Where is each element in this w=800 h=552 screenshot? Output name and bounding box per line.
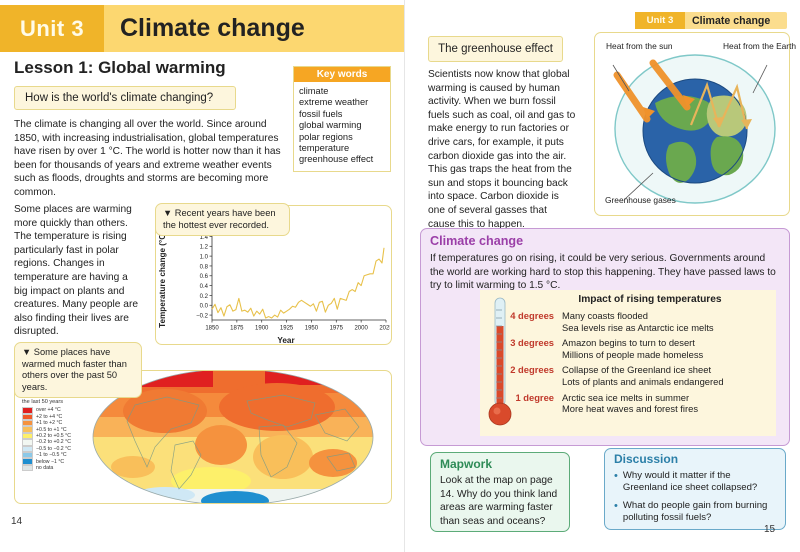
legend-label: over +4 °C xyxy=(36,407,61,413)
legend-label: +0.5 to +1 °C xyxy=(36,427,67,433)
svg-text:1.0: 1.0 xyxy=(200,255,209,261)
page-number-left: 14 xyxy=(11,516,22,527)
impact-effect: Millions of people made homeless xyxy=(562,349,703,361)
impact-effects: Collapse of the Greenland ice sheetLots … xyxy=(562,364,724,387)
svg-text:0.2: 0.2 xyxy=(200,294,209,300)
unit-label: Unit 3 xyxy=(20,16,84,42)
unit-banner: Unit 3 Climate change xyxy=(0,5,404,52)
legend-label: +0.2 to +0.5 °C xyxy=(36,433,71,439)
key-words-heading-label: Key words xyxy=(317,69,368,80)
climate-change-title: Climate change xyxy=(430,234,523,248)
greenhouse-diagram xyxy=(594,32,790,216)
intro-paragraph: The climate is changing all over the wor… xyxy=(14,118,286,200)
svg-text:1.2: 1.2 xyxy=(200,245,209,251)
key-word-item: extreme weather xyxy=(299,97,385,108)
impact-effect: Many coasts flooded xyxy=(562,310,714,322)
running-head: Unit 3 Climate change xyxy=(635,12,787,29)
climate-change-paragraph: If temperatures go on rising, it could b… xyxy=(430,252,778,293)
unit-tab: Unit 3 xyxy=(0,5,104,52)
impact-degrees: 4 degrees xyxy=(500,310,562,333)
chart-x-axis-text: Year xyxy=(277,336,294,345)
discussion-text: What do people gain from burning polluti… xyxy=(623,500,778,525)
discussion-list: •Why would it matter if the Greenland ic… xyxy=(614,470,778,530)
mapwork-text: Look at the map on page 14. Why do you t… xyxy=(440,474,562,528)
lesson-question-box: How is the world's climate changing? xyxy=(14,86,236,110)
textbook-spread: Unit 3 Climate change Lesson 1: Global w… xyxy=(0,0,800,552)
chart-y-axis-label: Temperature change (°C) xyxy=(155,232,169,327)
chart-y-axis-text: Temperature change (°C) xyxy=(158,231,167,328)
label-heat-from-sun: Heat from the sun xyxy=(606,42,673,52)
greenhouse-heading-text: The greenhouse effect xyxy=(438,43,553,55)
impact-effect: Collapse of the Greenland ice sheet xyxy=(562,364,724,376)
page-left: Unit 3 Climate change Lesson 1: Global w… xyxy=(0,0,404,552)
impact-row: 2 degreesCollapse of the Greenland ice s… xyxy=(500,364,772,387)
temperature-chart: −0.20.00.20.40.60.81.01.21.4185018751900… xyxy=(182,228,390,340)
running-head-unit-label: Unit 3 xyxy=(647,15,674,26)
map-caption-text: ▼ Some places have warmed much faster th… xyxy=(22,347,134,393)
impact-effect: More heat waves and forest fires xyxy=(562,403,698,415)
unit-title: Climate change xyxy=(120,5,305,52)
impact-row: 3 degreesAmazon begins to turn to desert… xyxy=(500,337,772,360)
label-greenhouse-gases: Greenhouse gases xyxy=(605,196,676,206)
key-word-item: temperature xyxy=(299,143,385,154)
discussion-item: •What do people gain from burning pollut… xyxy=(614,500,778,525)
key-words-list: climateextreme weatherfossil fuelsglobal… xyxy=(294,82,390,171)
legend-label: below −1 °C xyxy=(36,459,64,465)
legend-label: no data xyxy=(36,465,53,471)
impact-degrees: 2 degrees xyxy=(500,364,562,387)
legend-swatch xyxy=(22,465,33,471)
mapwork-title: Mapwork xyxy=(440,457,492,471)
lesson-question-text: How is the world's climate changing? xyxy=(25,92,213,104)
greenhouse-diagram-svg xyxy=(595,33,789,215)
impact-effect: Arctic sea ice melts in summer xyxy=(562,392,698,404)
discussion-title: Discussion xyxy=(614,452,678,466)
discussion-item: •Why would it matter if the Greenland ic… xyxy=(614,470,778,495)
svg-text:0.0: 0.0 xyxy=(200,304,209,310)
svg-text:0.6: 0.6 xyxy=(200,274,209,280)
impact-row: 4 degreesMany coasts floodedSea levels r… xyxy=(500,310,772,333)
impact-degrees: 3 degrees xyxy=(500,337,562,360)
map-legend-row: no data xyxy=(22,465,84,471)
svg-text:−0.2: −0.2 xyxy=(196,313,209,319)
lesson-title: Lesson 1: Global warming xyxy=(14,58,226,78)
unit-title-label: Climate change xyxy=(120,14,305,43)
impact-effect: Lots of plants and animals endangered xyxy=(562,376,724,388)
legend-label: +2 to +4 °C xyxy=(36,414,62,420)
svg-text:0.8: 0.8 xyxy=(200,264,209,270)
legend-label: −0.5 to −0.2 °C xyxy=(36,446,71,452)
running-head-title-label: Climate change xyxy=(692,15,770,27)
impact-effect: Sea levels rise as Antarctic ice melts xyxy=(562,322,714,334)
impact-degrees: 1 degree xyxy=(500,392,562,415)
impact-effect: Amazon begins to turn to desert xyxy=(562,337,703,349)
label-heat-from-earth: Heat from the Earth xyxy=(723,42,796,52)
key-word-item: polar regions xyxy=(299,132,385,143)
key-word-item: climate xyxy=(299,86,385,97)
chart-caption: ▼ Recent years have been the hottest eve… xyxy=(155,203,290,236)
greenhouse-heading-box: The greenhouse effect xyxy=(428,36,563,62)
chart-x-axis-label: Year xyxy=(182,330,390,348)
legend-label: +1 to +2 °C xyxy=(36,420,62,426)
impact-effects: Many coasts floodedSea levels rise as An… xyxy=(562,310,714,333)
svg-text:0.4: 0.4 xyxy=(200,284,209,290)
map-legend-rows: over +4 °C+2 to +4 °C+1 to +2 °C+0.5 to … xyxy=(22,407,84,471)
bullet-icon: • xyxy=(614,500,618,525)
key-words-box: Key words climateextreme weatherfossil f… xyxy=(293,66,391,172)
polar-paragraph: Some places are warming more quickly tha… xyxy=(14,203,144,339)
greenhouse-paragraph: Scientists now know that global warming … xyxy=(428,68,576,231)
impact-effects: Arctic sea ice melts in summerMore heat … xyxy=(562,392,698,415)
bullet-icon: • xyxy=(614,470,618,495)
legend-label: −1 to −0.5 °C xyxy=(36,452,67,458)
key-word-item: global warming xyxy=(299,120,385,131)
page-number-right: 15 xyxy=(764,524,775,535)
impact-row: 1 degreeArctic sea ice melts in summerMo… xyxy=(500,392,772,415)
impact-effects: Amazon begins to turn to desertMillions … xyxy=(562,337,703,360)
discussion-text: Why would it matter if the Greenland ice… xyxy=(623,470,778,495)
map-caption: ▼ Some places have warmed much faster th… xyxy=(14,342,142,398)
key-word-item: fossil fuels xyxy=(299,109,385,120)
map-legend: Temperature change in the last 50 years … xyxy=(22,392,84,471)
impact-rows: 4 degreesMany coasts floodedSea levels r… xyxy=(500,310,772,419)
key-words-heading: Key words xyxy=(294,67,390,82)
running-head-unit: Unit 3 xyxy=(635,12,685,29)
chart-svg: −0.20.00.20.40.60.81.01.21.4185018751900… xyxy=(182,228,390,340)
running-head-title: Climate change xyxy=(692,12,770,29)
chart-caption-text: ▼ Recent years have been the hottest eve… xyxy=(163,208,282,231)
impact-title: Impact of rising temperatures xyxy=(530,294,770,305)
legend-label: −0.2 to +0.2 °C xyxy=(36,439,71,445)
key-word-item: greenhouse effect xyxy=(299,154,385,165)
